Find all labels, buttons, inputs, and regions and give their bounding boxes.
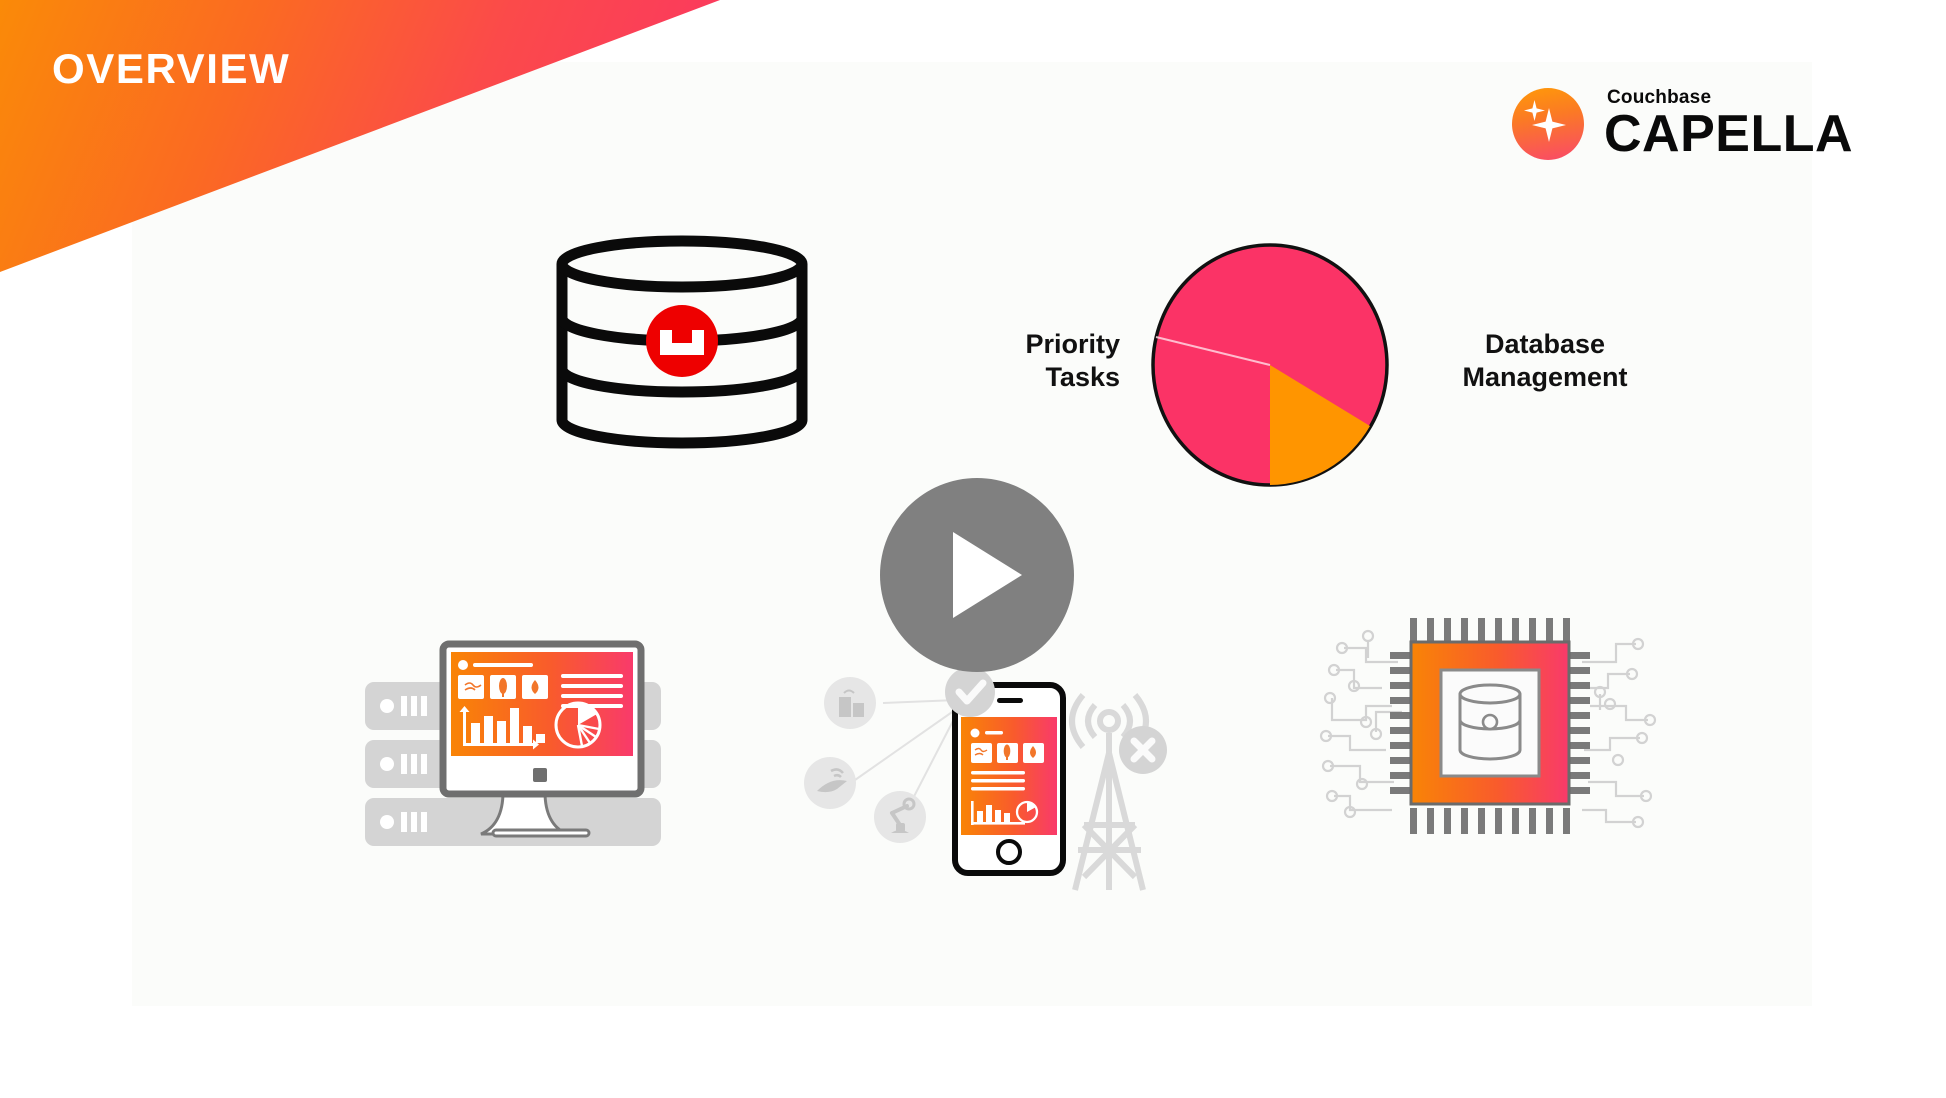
- airplane-icon: [804, 757, 856, 809]
- chip-pins-bottom: [1410, 808, 1570, 834]
- chip-pins-top: [1410, 618, 1570, 644]
- pie-label-priority-tasks-line1: Priority: [930, 328, 1120, 361]
- pie-label-database-management-line2: Management: [1400, 361, 1690, 394]
- play-icon: [953, 532, 1022, 618]
- capella-logo: Couchbase CAPELLA: [1512, 78, 1864, 170]
- capella-wordmark: Couchbase CAPELLA: [1604, 88, 1853, 160]
- circuit-traces-left: [1328, 640, 1402, 810]
- monitor-icon: [365, 630, 677, 850]
- sparkle-large-icon: [1532, 108, 1566, 142]
- pie-label-priority-tasks: Priority Tasks: [930, 328, 1120, 394]
- database-icon: [556, 236, 808, 448]
- pie-chart: [1150, 243, 1390, 488]
- logo-capella-text: CAPELLA: [1604, 108, 1853, 160]
- capella-badge-icon: [1512, 88, 1584, 160]
- page-title: OVERVIEW: [52, 48, 290, 90]
- circuit-traces-right: [1582, 644, 1648, 822]
- check-badge-icon: [945, 667, 995, 717]
- couchbase-logo-icon: [646, 305, 718, 377]
- pie-label-database-management: Database Management: [1400, 328, 1690, 394]
- x-badge-icon: [1119, 726, 1167, 774]
- pie-label-database-management-line1: Database: [1400, 328, 1690, 361]
- building-icon: [824, 677, 876, 729]
- cpu-chip-icon: [1310, 600, 1670, 850]
- slide-canvas: OVERVIEW Couchbase CAPELLA: [0, 0, 1946, 1098]
- pie-label-priority-tasks-line2: Tasks: [930, 361, 1120, 394]
- robot-arm-icon: [874, 791, 926, 843]
- sparkle-small-icon: [1524, 100, 1545, 121]
- play-button[interactable]: [880, 478, 1074, 672]
- smartphone-icon: [795, 655, 1185, 905]
- tower-antenna-icon: [1100, 712, 1118, 730]
